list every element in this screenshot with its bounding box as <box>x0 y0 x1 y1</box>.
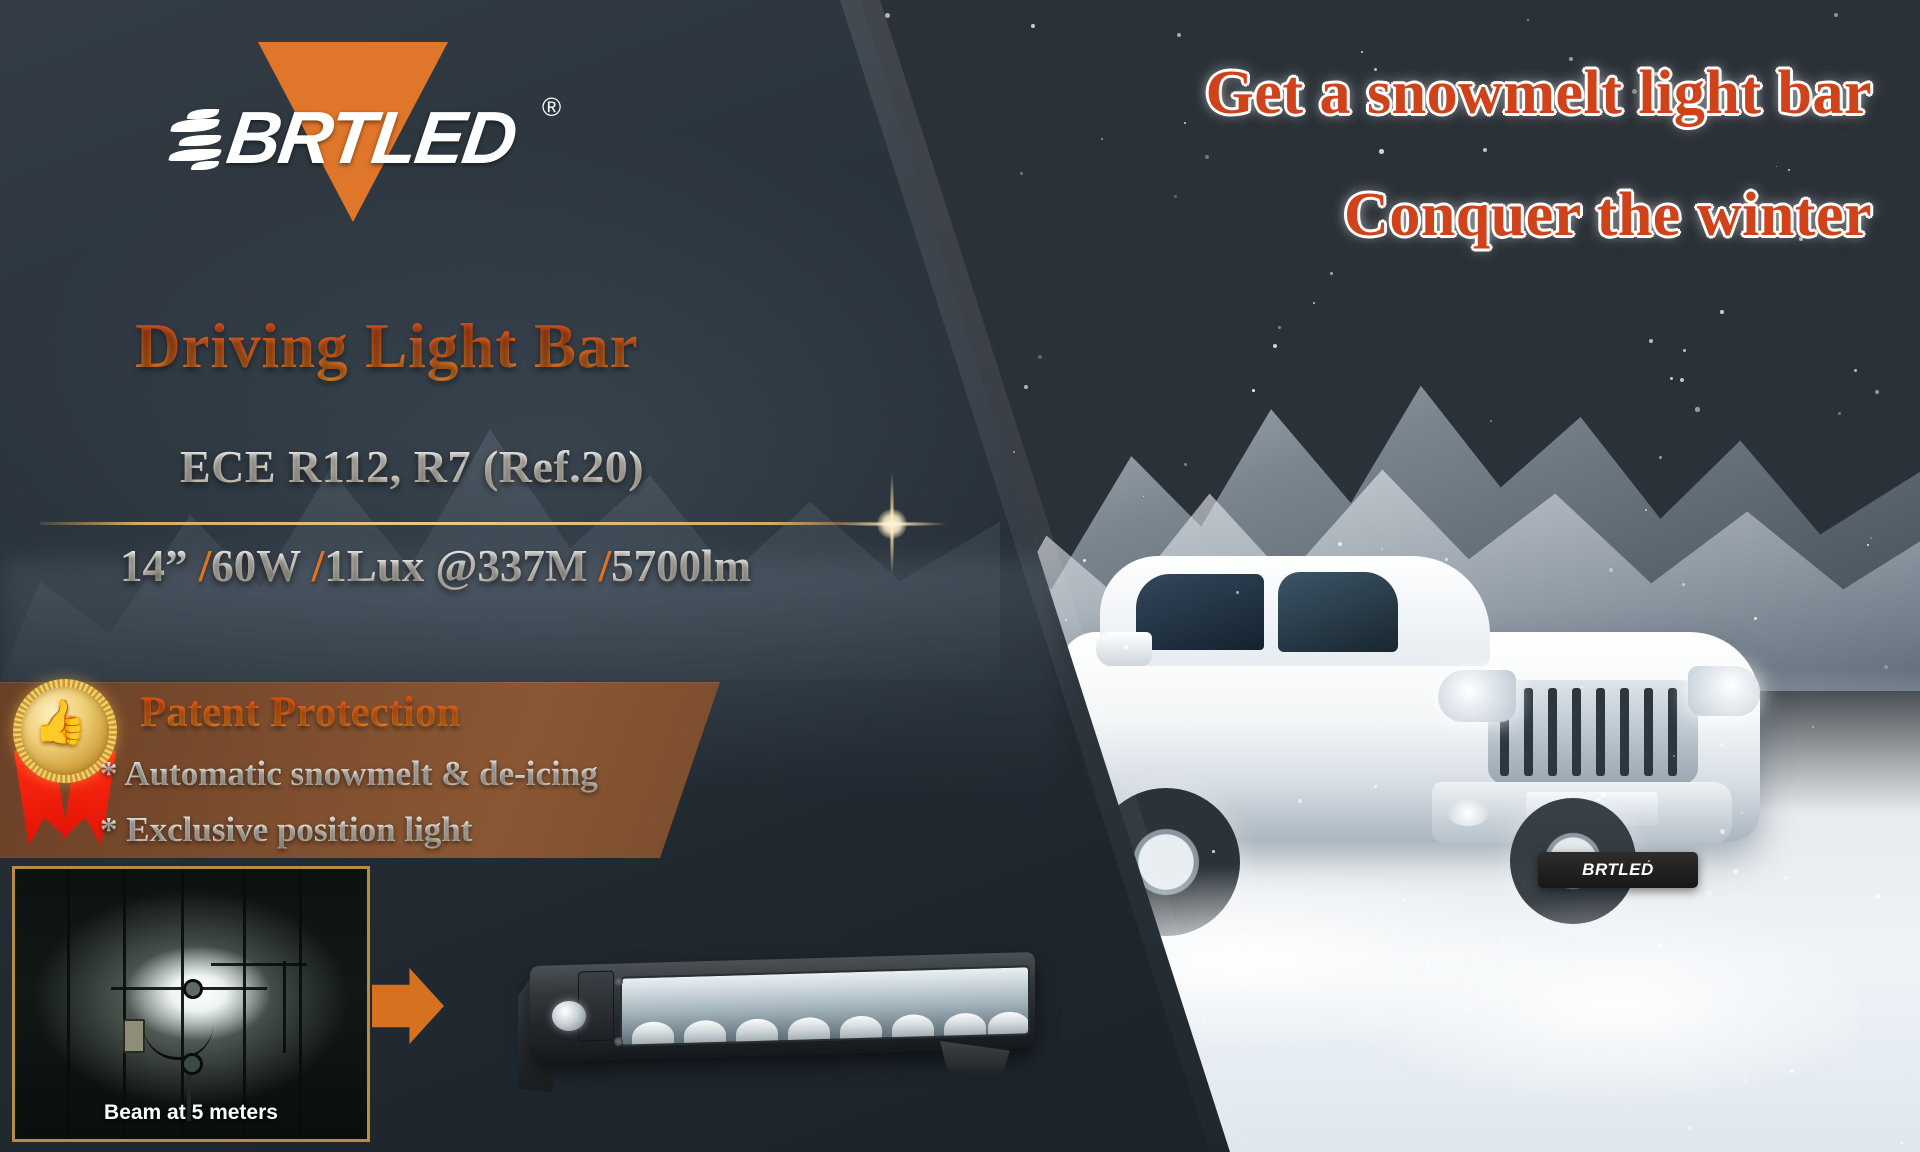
vehicle-badge-label: BRTLED <box>1582 860 1654 880</box>
spec-size: 14” <box>120 541 188 591</box>
logo-wordmark: BRTLED <box>170 96 590 180</box>
product-title: Driving Light Bar <box>135 310 895 383</box>
thumbs-up-icon: 👍 <box>33 701 95 759</box>
suv-side-mirror <box>1096 632 1152 666</box>
led-light-bar-icon <box>500 945 1040 1110</box>
patent-title: Patent Protection <box>140 688 700 737</box>
beam-caption: Beam at 5 meters <box>15 1101 367 1125</box>
headline-line-2: Conquer the winter <box>942 180 1872 251</box>
spec-lux: 1Lux @337M <box>324 541 587 591</box>
spec-line: 14” /60W /1Lux @337M /5700lm <box>120 540 920 592</box>
suv-vehicle: BRTLED <box>1040 520 1780 950</box>
spec-lumens: 5700lm <box>611 541 751 591</box>
suv-grille <box>1488 680 1698 784</box>
suv-front-window <box>1136 574 1264 650</box>
suv-windshield <box>1278 572 1398 652</box>
gold-divider <box>40 522 872 525</box>
patent-bullet-1: * Automatic snowmelt & de-icing <box>100 754 740 794</box>
beam-test-photo[interactable]: Beam at 5 meters <box>12 866 370 1142</box>
patent-bullet-2: * Exclusive position light <box>100 810 740 850</box>
brand-logo[interactable]: BRTLED ® <box>170 30 590 230</box>
spec-separator-3: / <box>599 541 612 591</box>
spec-power: 60W <box>211 541 300 591</box>
registered-trademark-icon: ® <box>542 92 561 123</box>
suv-headlight-right <box>1688 666 1760 716</box>
spec-separator-1: / <box>199 541 212 591</box>
light-bar-mount-bolt <box>552 1001 586 1031</box>
product-banner: BRTLED BRTLED ® Driving Light Bar ECE R1… <box>0 0 1920 1152</box>
light-bar-lens <box>620 965 1030 1046</box>
light-bar-side-panel <box>578 970 614 1041</box>
suv-headlight-left <box>1438 670 1516 722</box>
suv-fog-light <box>1448 800 1488 826</box>
flame-icon <box>170 107 232 169</box>
certification-label: ECE R112, R7 (Ref.20) <box>180 440 940 493</box>
spec-separator-2: / <box>312 541 325 591</box>
headline-line-1: Get a snowmelt light bar <box>942 58 1872 129</box>
brand-name: BRTLED <box>223 101 520 175</box>
beam-image <box>15 869 367 1139</box>
vehicle-brand-badge: BRTLED <box>1538 852 1698 888</box>
